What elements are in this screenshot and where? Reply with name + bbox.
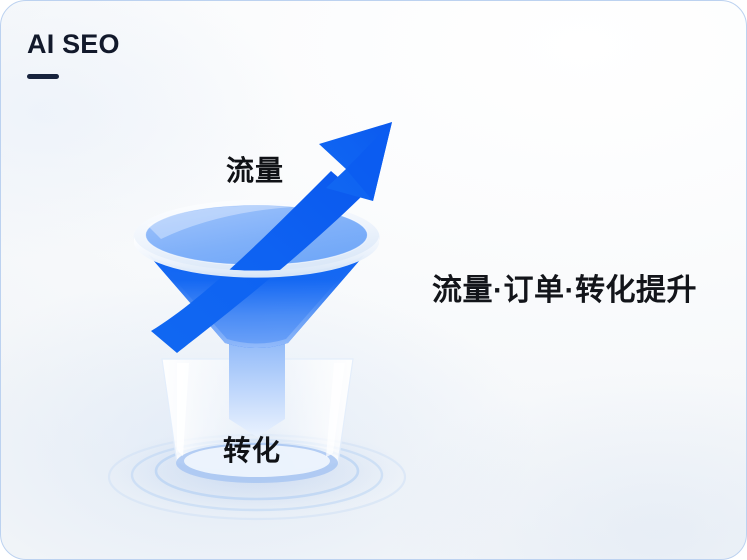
funnel-label-traffic: 流量 xyxy=(226,157,284,185)
funnel-illustration xyxy=(1,1,747,560)
funnel-label-conversion: 转化 xyxy=(223,437,281,465)
poster-canvas: AI SEO 流量·订单·转化提升 xyxy=(0,0,747,560)
